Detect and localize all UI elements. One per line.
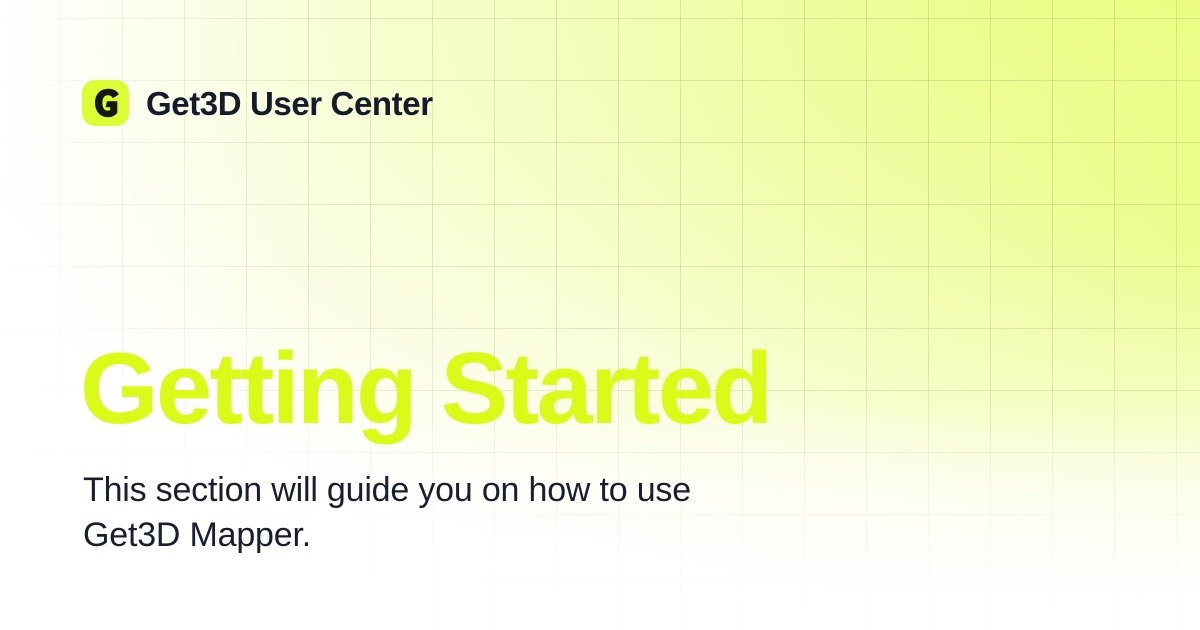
page-subtitle-line-1: This section will guide you on how to us…: [83, 468, 843, 513]
brand-title: Get3D User Center: [146, 87, 433, 120]
page-subtitle-line-2: Get3D Mapper.: [83, 513, 843, 558]
page-subtitle: This section will guide you on how to us…: [83, 468, 843, 558]
page-title: Getting Started: [80, 336, 771, 442]
brand-lockup: Get3D User Center: [82, 80, 433, 126]
get3d-logo-icon: [82, 80, 129, 126]
og-banner: Get3D User Center Getting Started This s…: [0, 0, 1200, 630]
banner-content: Get3D User Center Getting Started This s…: [0, 0, 1200, 630]
